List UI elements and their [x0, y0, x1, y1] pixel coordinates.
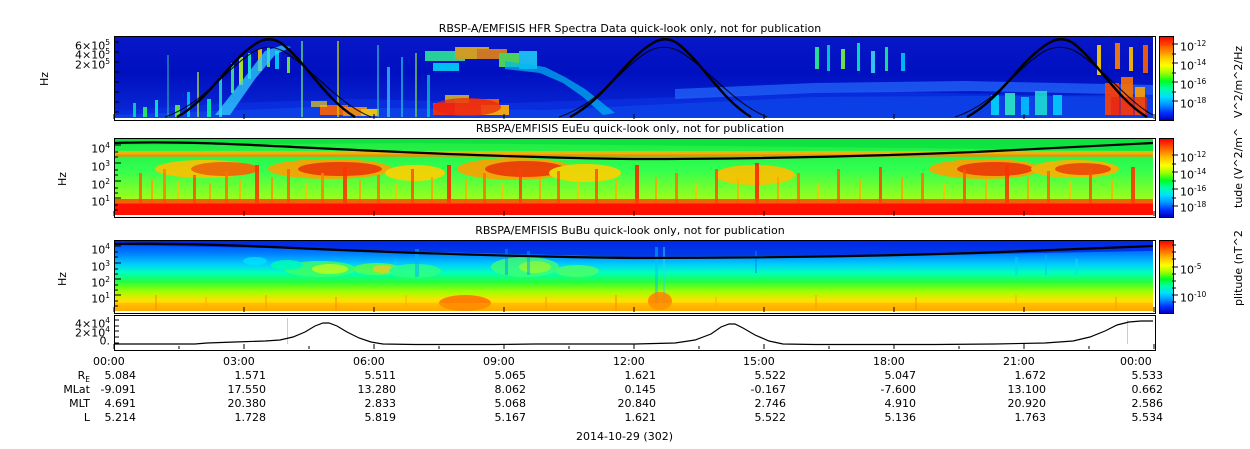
axis-tick-overlay: [0, 0, 1250, 449]
